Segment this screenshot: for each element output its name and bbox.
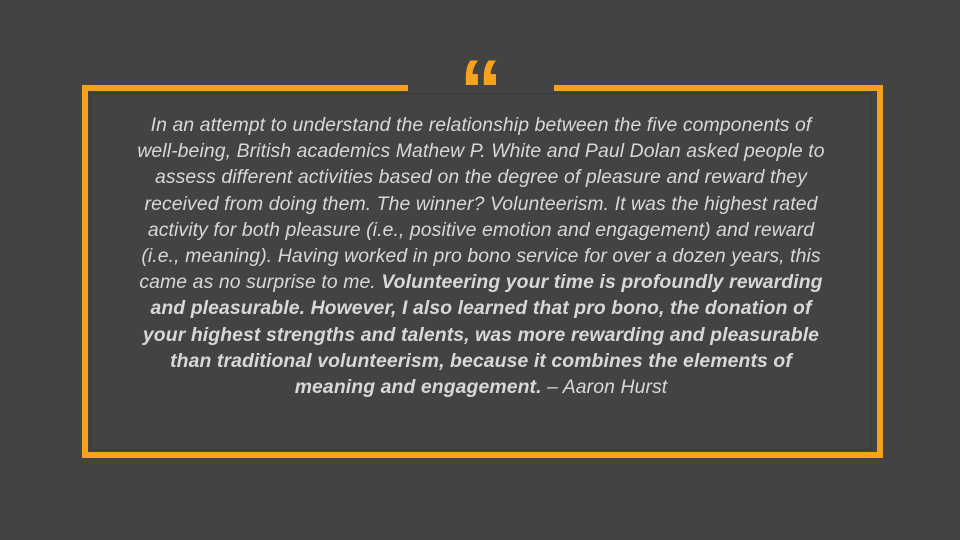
quote-lead-text: In an attempt to understand the relation…	[137, 114, 824, 293]
quote-attribution: – Aaron Hurst	[542, 376, 668, 398]
frame-bottom-segment	[82, 452, 883, 458]
frame-right-segment	[877, 85, 883, 458]
quote-slide: “ In an attempt to understand the relati…	[0, 0, 960, 540]
quote-text-block: In an attempt to understand the relation…	[128, 112, 834, 400]
frame-left-segment	[82, 85, 88, 458]
